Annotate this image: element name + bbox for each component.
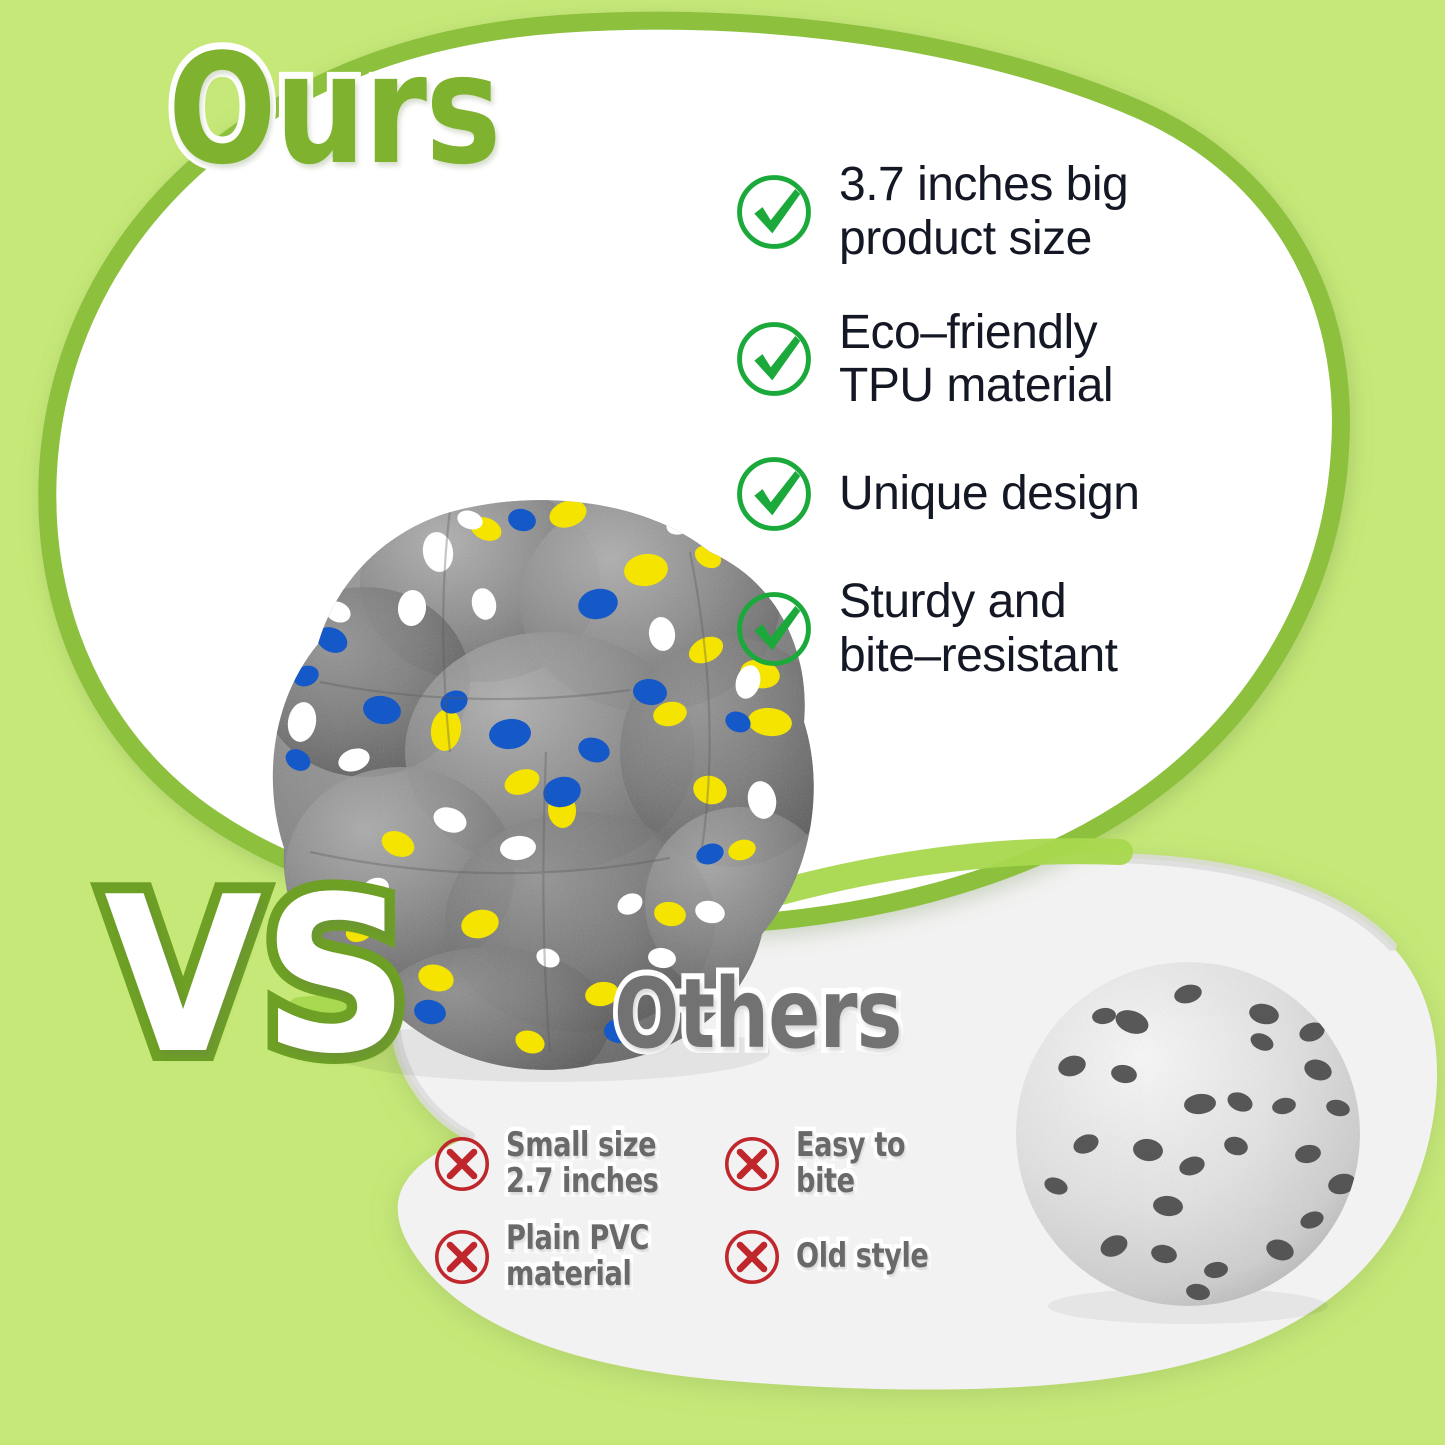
- con-item: Old style: [722, 1221, 1012, 1292]
- con-item: Plain PVC material: [432, 1221, 722, 1292]
- others-con-list: Small size 2.7 inches Easy to bite Plain…: [432, 1128, 1012, 1293]
- ours-feature-list: 3.7 inches big product size Eco–friendly…: [733, 158, 1203, 683]
- others-heading: Others: [614, 966, 902, 1062]
- feature-label: 3.7 inches big product size: [839, 158, 1128, 266]
- feature-item: Unique design: [733, 453, 1203, 535]
- ours-heading: Ours: [168, 34, 500, 186]
- check-circle-icon: [733, 453, 815, 535]
- con-label: Easy to bite: [796, 1128, 969, 1199]
- cross-circle-icon: [432, 1227, 492, 1287]
- con-item: Easy to bite: [722, 1128, 1012, 1199]
- feature-label: Eco–friendly TPU material: [839, 306, 1113, 414]
- cross-circle-icon: [722, 1134, 782, 1194]
- check-circle-icon: [733, 171, 815, 253]
- comparison-infographic: Ours 3.7 inches big product size Eco–fri…: [0, 0, 1445, 1445]
- feature-item: Sturdy and bite–resistant: [733, 575, 1203, 683]
- feature-label: Sturdy and bite–resistant: [839, 575, 1118, 683]
- feature-label: Unique design: [839, 467, 1139, 521]
- check-circle-icon: [733, 588, 815, 670]
- feature-item: Eco–friendly TPU material: [733, 306, 1203, 414]
- check-circle-icon: [733, 318, 815, 400]
- cross-circle-icon: [722, 1227, 782, 1287]
- con-label: Small size 2.7 inches: [506, 1128, 658, 1199]
- feature-item: 3.7 inches big product size: [733, 158, 1203, 266]
- cross-circle-icon: [432, 1134, 492, 1194]
- con-label: Plain PVC material: [506, 1221, 649, 1292]
- con-item: Small size 2.7 inches: [432, 1128, 722, 1199]
- versus-label: VS: [104, 868, 409, 1083]
- con-label: Old style: [796, 1239, 928, 1275]
